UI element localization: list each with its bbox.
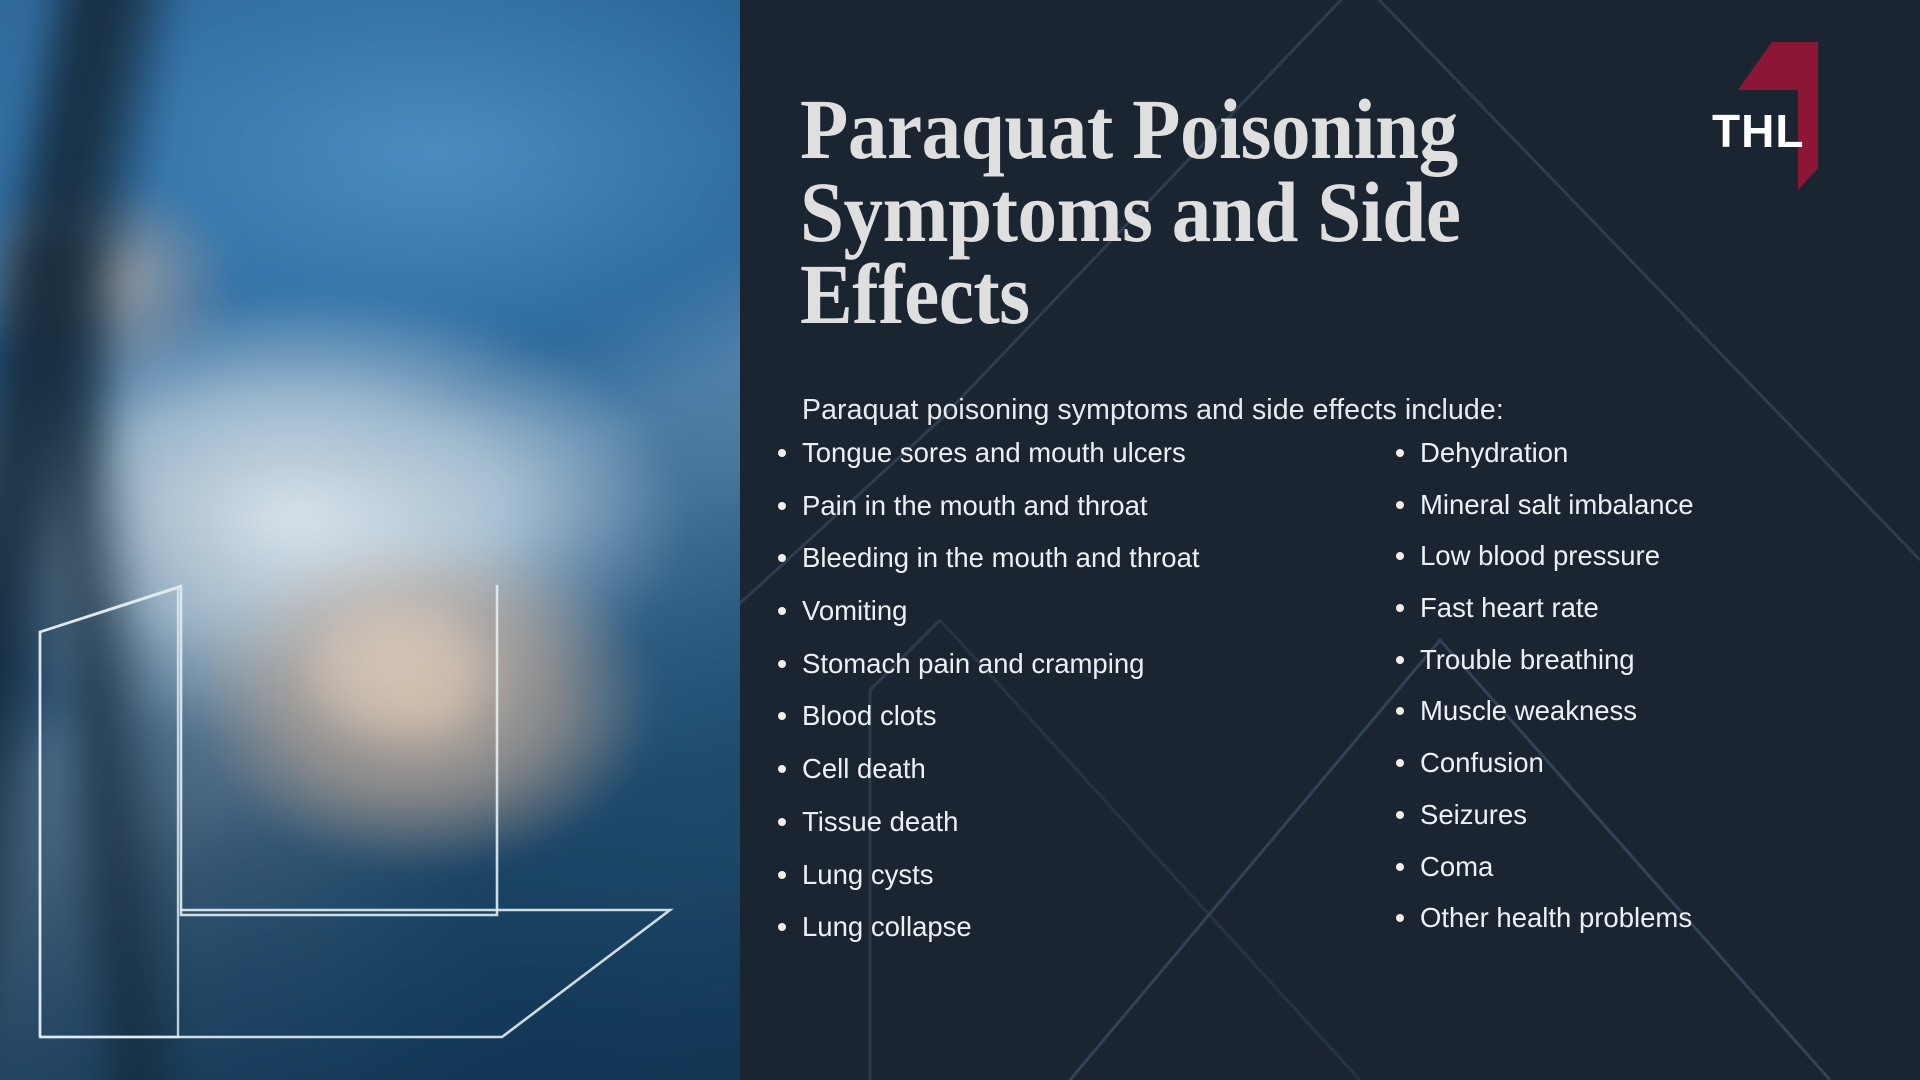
list-item-label: Other health problems xyxy=(1420,902,1692,933)
list-item: Confusion xyxy=(1378,748,1898,778)
bullet-dot-icon xyxy=(1396,449,1404,457)
list-item-label: Seizures xyxy=(1420,799,1527,830)
bullet-dot-icon xyxy=(1396,759,1404,767)
bullet-dot-icon xyxy=(778,765,786,773)
list-item: Tongue sores and mouth ulcers xyxy=(760,438,1360,468)
symptom-list-left: Tongue sores and mouth ulcersPain in the… xyxy=(760,438,1360,942)
symptom-column-left: Tongue sores and mouth ulcersPain in the… xyxy=(760,438,1360,965)
list-item: Bleeding in the mouth and throat xyxy=(760,543,1360,573)
list-item-label: Dehydration xyxy=(1420,437,1568,468)
list-item-label: Tongue sores and mouth ulcers xyxy=(802,437,1186,468)
bullet-dot-icon xyxy=(1396,811,1404,819)
list-item-label: Muscle weakness xyxy=(1420,695,1637,726)
list-item-label: Confusion xyxy=(1420,747,1544,778)
bullet-dot-icon xyxy=(778,607,786,615)
slide-root: THL Paraquat Poisoning Symptoms and Side… xyxy=(0,0,1920,1080)
bullet-dot-icon xyxy=(1396,707,1404,715)
list-item: Dehydration xyxy=(1378,438,1898,468)
list-item-label: Cell death xyxy=(802,753,926,784)
symptom-column-right: DehydrationMineral salt imbalanceLow blo… xyxy=(1378,438,1898,965)
bullet-dot-icon xyxy=(1396,604,1404,612)
list-item: Other health problems xyxy=(1378,903,1898,933)
page-title: Paraquat Poisoning Symptoms and Side Eff… xyxy=(800,88,1564,336)
list-item: Muscle weakness xyxy=(1378,696,1898,726)
list-item-label: Tissue death xyxy=(802,806,958,837)
list-item-label: Lung cysts xyxy=(802,859,933,890)
page-title-line-3: Effects xyxy=(800,246,1030,342)
list-item-label: Fast heart rate xyxy=(1420,592,1599,623)
list-item-label: Lung collapse xyxy=(802,911,972,942)
list-item-label: Blood clots xyxy=(802,700,937,731)
list-item-label: Coma xyxy=(1420,851,1493,882)
bullet-dot-icon xyxy=(1396,863,1404,871)
list-item: Blood clots xyxy=(760,701,1360,731)
bullet-dot-icon xyxy=(778,660,786,668)
content-panel: THL Paraquat Poisoning Symptoms and Side… xyxy=(740,0,1920,1080)
bullet-dot-icon xyxy=(778,502,786,510)
symptom-lists: Tongue sores and mouth ulcersPain in the… xyxy=(740,438,1920,965)
list-item-label: Vomiting xyxy=(802,595,907,626)
list-item: Seizures xyxy=(1378,800,1898,830)
list-item: Trouble breathing xyxy=(1378,645,1898,675)
list-item: Low blood pressure xyxy=(1378,541,1898,571)
list-item: Lung cysts xyxy=(760,860,1360,890)
list-item-label: Mineral salt imbalance xyxy=(1420,489,1694,520)
bullet-dot-icon xyxy=(778,923,786,931)
list-item: Cell death xyxy=(760,754,1360,784)
list-item-label: Pain in the mouth and throat xyxy=(802,490,1148,521)
bullet-dot-icon xyxy=(778,871,786,879)
bullet-dot-icon xyxy=(778,554,786,562)
symptom-list-right: DehydrationMineral salt imbalanceLow blo… xyxy=(1378,438,1898,933)
list-item: Fast heart rate xyxy=(1378,593,1898,623)
list-item-label: Bleeding in the mouth and throat xyxy=(802,542,1200,573)
bullet-dot-icon xyxy=(1396,501,1404,509)
bullet-dot-icon xyxy=(778,712,786,720)
list-item-label: Stomach pain and cramping xyxy=(802,648,1144,679)
list-item: Mineral salt imbalance xyxy=(1378,490,1898,520)
bullet-dot-icon xyxy=(1396,552,1404,560)
list-item: Coma xyxy=(1378,852,1898,882)
list-item-label: Low blood pressure xyxy=(1420,540,1660,571)
list-item: Stomach pain and cramping xyxy=(760,649,1360,679)
bullet-dot-icon xyxy=(778,449,786,457)
list-item: Tissue death xyxy=(760,807,1360,837)
list-item-label: Trouble breathing xyxy=(1420,644,1635,675)
thl-logo[interactable]: THL xyxy=(1700,30,1830,190)
bullet-dot-icon xyxy=(1396,656,1404,664)
thl-wordmark: THL xyxy=(1712,108,1804,154)
list-item: Pain in the mouth and throat xyxy=(760,491,1360,521)
bullet-dot-icon xyxy=(1396,914,1404,922)
bullet-dot-icon xyxy=(778,818,786,826)
list-item: Lung collapse xyxy=(760,912,1360,942)
list-item: Vomiting xyxy=(760,596,1360,626)
hero-photo-panel xyxy=(0,0,740,1080)
chevron-outline-overlay-icon xyxy=(0,0,740,1080)
intro-text: Paraquat poisoning symptoms and side eff… xyxy=(802,394,1504,427)
